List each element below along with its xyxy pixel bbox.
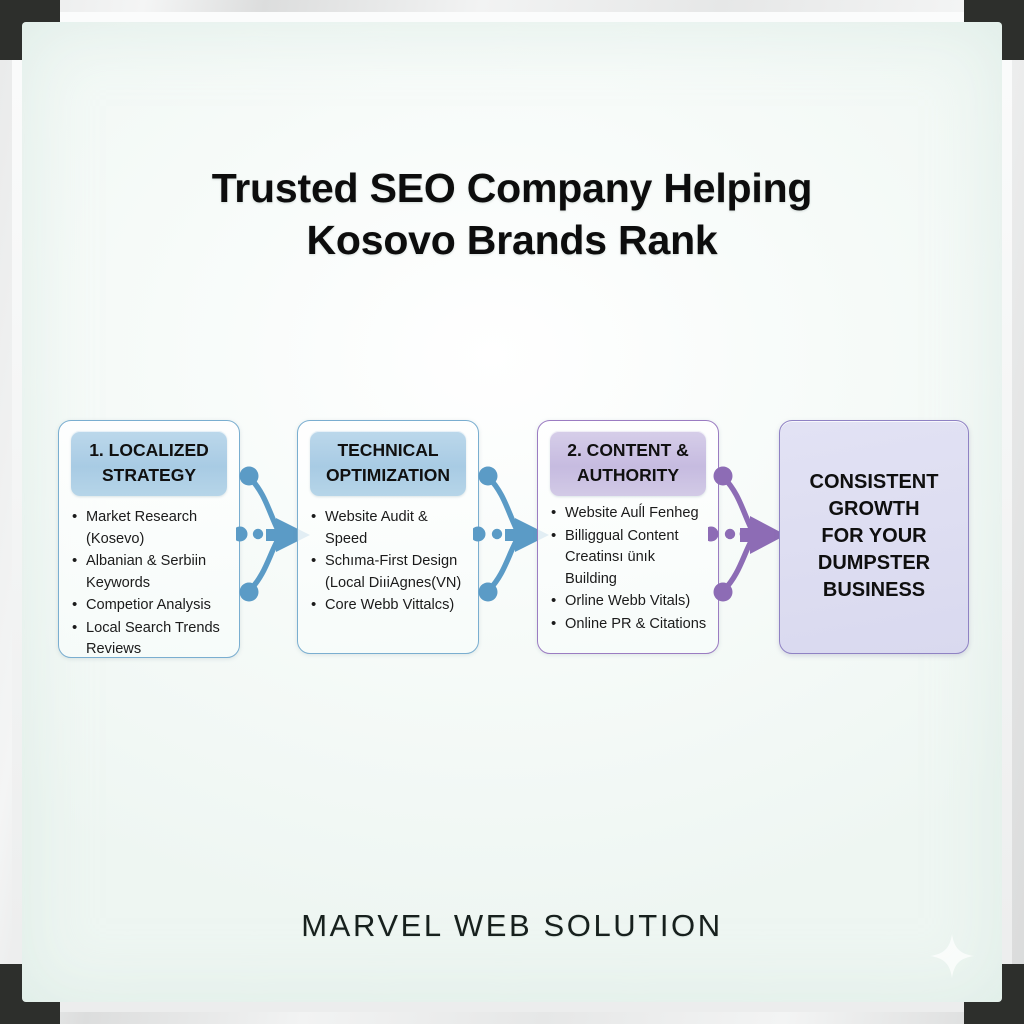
page-title-line-2: Kosovo Brands Rank [112, 214, 912, 266]
flow-outcome-line-2: GROWTH [790, 496, 958, 523]
flow-step-technical-optimization[interactable]: TECHNICAL OPTIMIZATION Website Audit & S… [297, 420, 479, 654]
page-title-line-1: Trusted SEO Company Helping [112, 162, 912, 214]
flow-step-1-header-line-1: 1. LOCALIZED [75, 438, 223, 463]
flow-step-2-header: TECHNICAL OPTIMIZATION [310, 431, 466, 496]
list-item: Market Research (Kosevo) [86, 507, 231, 550]
list-item: Schıma-First Design (Local DiıiAgnes(VN) [325, 551, 470, 594]
flow-outcome-text: CONSISTENT GROWTH FOR YOUR DUMPSTER BUSI… [790, 469, 958, 604]
flow-outcome-consistent-growth[interactable]: CONSISTENT GROWTH FOR YOUR DUMPSTER BUSI… [779, 420, 969, 654]
list-item: Online PR & Citations [565, 614, 710, 636]
flow-step-3-header-line-1: 2. CONTENT & [554, 438, 702, 463]
flow-step-3-header-line-2: AUTHORITY [554, 463, 702, 488]
flow-step-1-header-line-2: STRATEGY [75, 463, 223, 488]
flow-outcome-line-4: DUMPSTER [790, 550, 958, 577]
flow-step-2-body: Website Audit & Speed Schıma-First Desig… [308, 507, 470, 618]
flow-outcome-line-3: FOR YOUR [790, 523, 958, 550]
page-title: Trusted SEO Company Helping Kosovo Brand… [112, 162, 912, 266]
flow-step-2-header-line-1: TECHNICAL [314, 438, 462, 463]
sparkle-icon [928, 932, 976, 980]
list-item: Albanian & Serbiin Keywords [86, 551, 231, 594]
list-item: Billiggual Content Creatinsı ünık Buildi… [565, 526, 710, 591]
list-item: Core Webb Vittalcs) [325, 595, 470, 617]
flow-step-content-authority[interactable]: 2. CONTENT & AUTHORITY Website Auĺl Fenh… [537, 420, 719, 654]
flow-step-3-body: Website Auĺl Fenheg Billiggual Content C… [548, 503, 710, 636]
list-item: Local Search Trends Reviews [86, 618, 231, 661]
flow-step-localized-strategy[interactable]: 1. LOCALIZED STRATEGY Market Research (K… [58, 420, 240, 658]
flow-step-1-header: 1. LOCALIZED STRATEGY [71, 431, 227, 496]
flow-step-3-header: 2. CONTENT & AUTHORITY [550, 431, 706, 496]
brand-footer: MARVEL WEB SOLUTION [0, 908, 1024, 944]
list-item: Competior Analysis [86, 595, 231, 617]
process-flow: 1. LOCALIZED STRATEGY Market Research (K… [0, 420, 1024, 660]
flow-step-2-header-line-2: OPTIMIZATION [314, 463, 462, 488]
flow-outcome-line-1: CONSISTENT [790, 469, 958, 496]
list-item: Orline Webb Vitals) [565, 591, 710, 613]
list-item: Website Audit & Speed [325, 507, 470, 550]
flow-outcome-line-5: BUSINESS [790, 577, 958, 604]
flow-step-1-body: Market Research (Kosevo) Albanian & Serb… [69, 507, 231, 662]
list-item: Website Auĺl Fenheg [565, 503, 710, 525]
whiteboard-infographic: Trusted SEO Company Helping Kosovo Brand… [0, 0, 1024, 1024]
